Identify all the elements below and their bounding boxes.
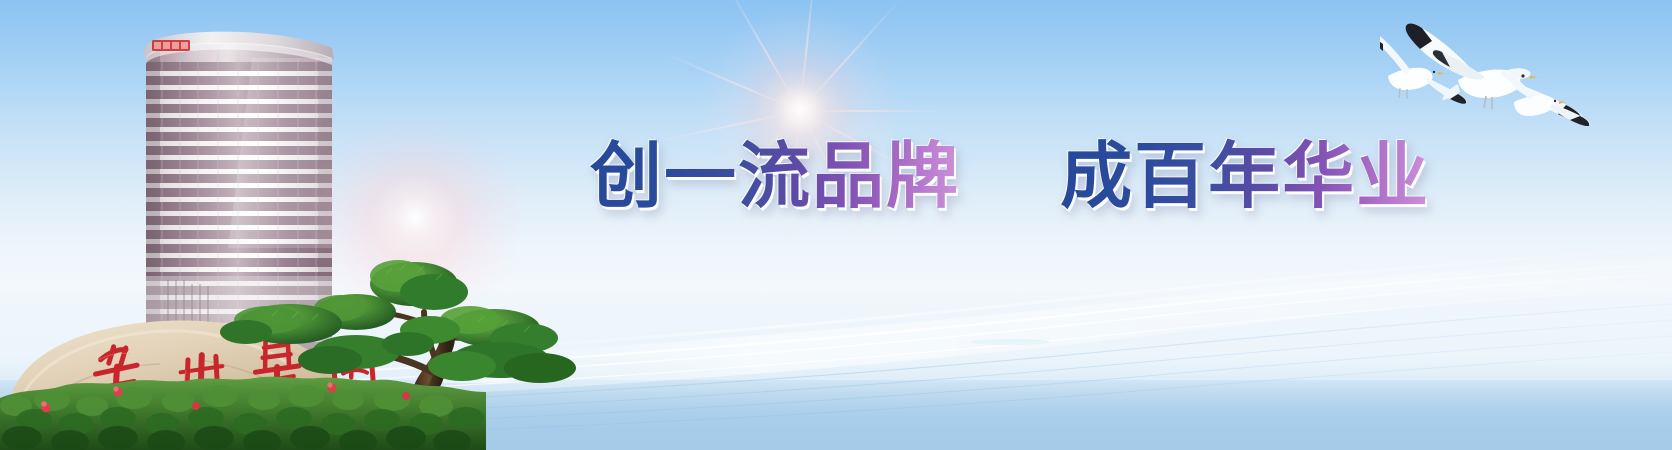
slogan-phrase-1: 创一流品牌 (590, 134, 960, 218)
slogan-text: 创一流品牌 成百年华业 (590, 128, 1370, 224)
hero-banner: 创一流品牌 成百年华业 (0, 0, 1672, 450)
seagull-icon-small-lower (1504, 74, 1590, 126)
rooftop-sign (152, 40, 190, 51)
green-hedge (0, 377, 486, 450)
landscape-foreground (0, 220, 600, 450)
slogan-phrase-2: 成百年华业 (1060, 134, 1430, 218)
seagulls-group (1380, 6, 1672, 126)
